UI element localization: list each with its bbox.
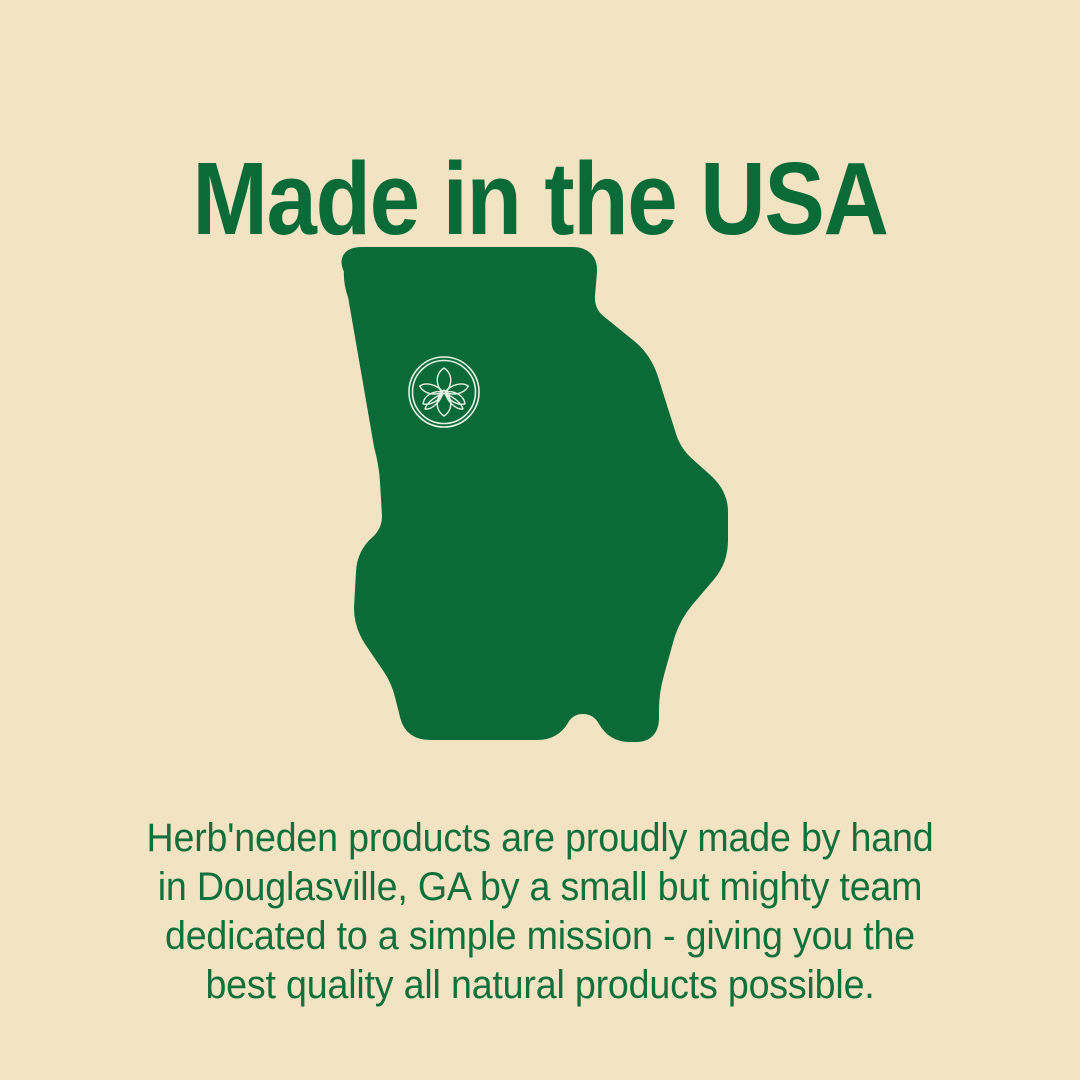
description-line-2: in Douglasville, GA by a small but might… <box>89 863 991 912</box>
georgia-state-map <box>300 240 840 770</box>
made-in-usa-poster: Made in the USA <box>0 0 1080 1080</box>
description-line-1: Herb'neden products are proudly made by … <box>89 814 991 863</box>
description-text: Herb'neden products are proudly made by … <box>60 814 1020 1010</box>
description-line-3: dedicated to a simple mission - giving y… <box>89 912 991 961</box>
georgia-state-silhouette <box>300 240 840 770</box>
description-line-4: best quality all natural products possib… <box>89 961 991 1010</box>
state-outline-path <box>350 255 720 734</box>
page-title: Made in the USA <box>65 147 1015 250</box>
